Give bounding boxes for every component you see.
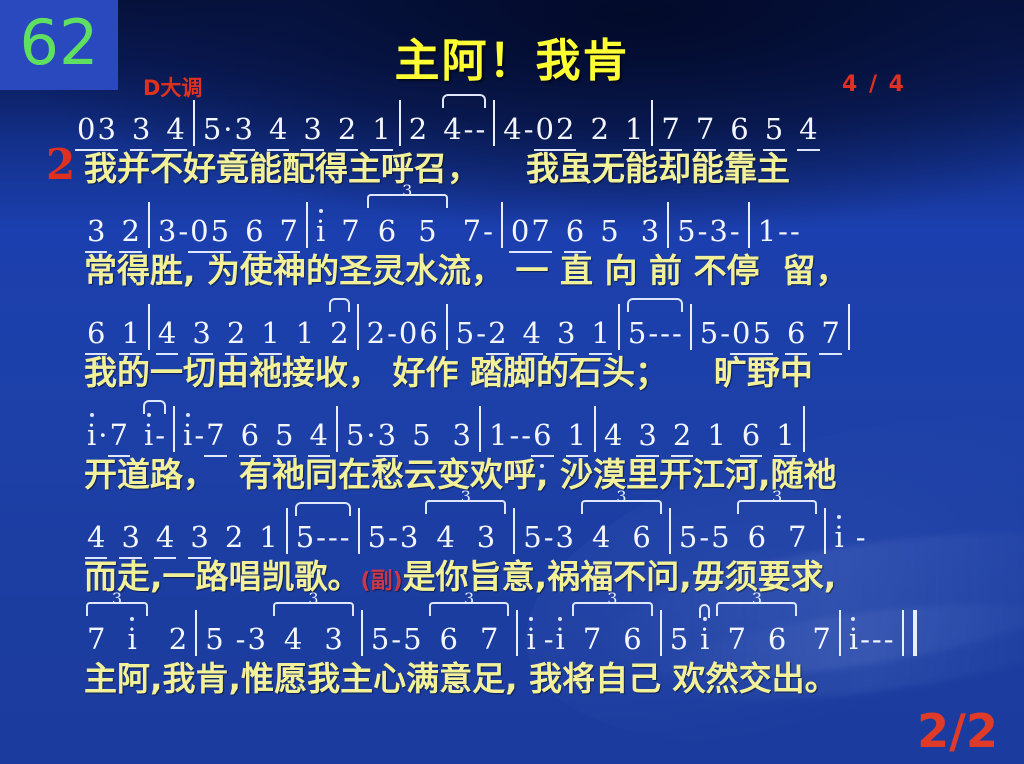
notation-row-3: 614321122-065-24315---5-0567 bbox=[86, 308, 1006, 350]
score-systems: 03345·3432124--4-022177654 我并不好竟能配得主呼召， … bbox=[0, 104, 1024, 716]
notation-row-2: 323-0567i73657-076535-3-1-- bbox=[86, 206, 1006, 248]
notation-row-1: 03345·3432124--4-022177654 bbox=[76, 104, 1006, 146]
notation-row-6: 37i25-33435-5367i-i3765i3767i--- bbox=[86, 614, 1006, 656]
score-system-3: 614321122-065-24315---5-0567 我的一切由祂接收， 好… bbox=[0, 308, 1024, 410]
lyrics-row-5: 而走,一路唱凯歌。(副)是你旨意,祸福不问,毋须要求, bbox=[84, 550, 1010, 606]
notation-row-5: 4343215---5-33435-33465-5367i- bbox=[86, 512, 1006, 554]
slide-canvas: 62 主阿！我肯 D大调 4 / 4 2 2/2 03345·3432124--… bbox=[0, 0, 1024, 764]
time-signature: 4 / 4 bbox=[842, 72, 906, 97]
lyrics-row-6: 主阿,我肯,惟愿我主心满意足, 我将自己 欢然交出。 bbox=[84, 652, 1010, 708]
lyrics-row-5-text: 而走,一路唱凯歌。(副)是你旨意,祸福不问,毋须要求, bbox=[84, 557, 836, 596]
score-system-5: 4343215---5-33435-33465-5367i- 而走,一路唱凯歌。… bbox=[0, 512, 1024, 614]
lyrics-row-1: 我并不好竟能配得主呼召， 我虽无能却能靠主 bbox=[84, 142, 1010, 198]
score-system-4: i·7i-i-76545·3531--61432161 开道路， 有祂同在愁云变… bbox=[0, 410, 1024, 512]
score-system-1: 03345·3432124--4-022177654 我并不好竟能配得主呼召， … bbox=[0, 104, 1024, 206]
lyrics-row-3: 我的一切由祂接收， 好作 踏脚的石头； 旷野中 bbox=[84, 346, 1010, 402]
lyrics-row-2: 常得胜, 为使神的圣灵水流， 一 直 向 前 不停 留， bbox=[84, 244, 1010, 300]
notation-row-4: i·7i-i-76545·3531--61432161 bbox=[86, 410, 1006, 452]
refrain-marker: (副) bbox=[361, 569, 403, 594]
score-system-6: 37i25-33435-5367i-i3765i3767i--- 主阿,我肯,惟… bbox=[0, 614, 1024, 716]
key-signature: D大调 bbox=[143, 72, 202, 102]
score-system-2: 323-0567i73657-076535-3-1-- 常得胜, 为使神的圣灵水… bbox=[0, 206, 1024, 308]
lyrics-row-4: 开道路， 有祂同在愁云变欢呼, 沙漠里开江河,随祂 bbox=[84, 448, 1010, 504]
